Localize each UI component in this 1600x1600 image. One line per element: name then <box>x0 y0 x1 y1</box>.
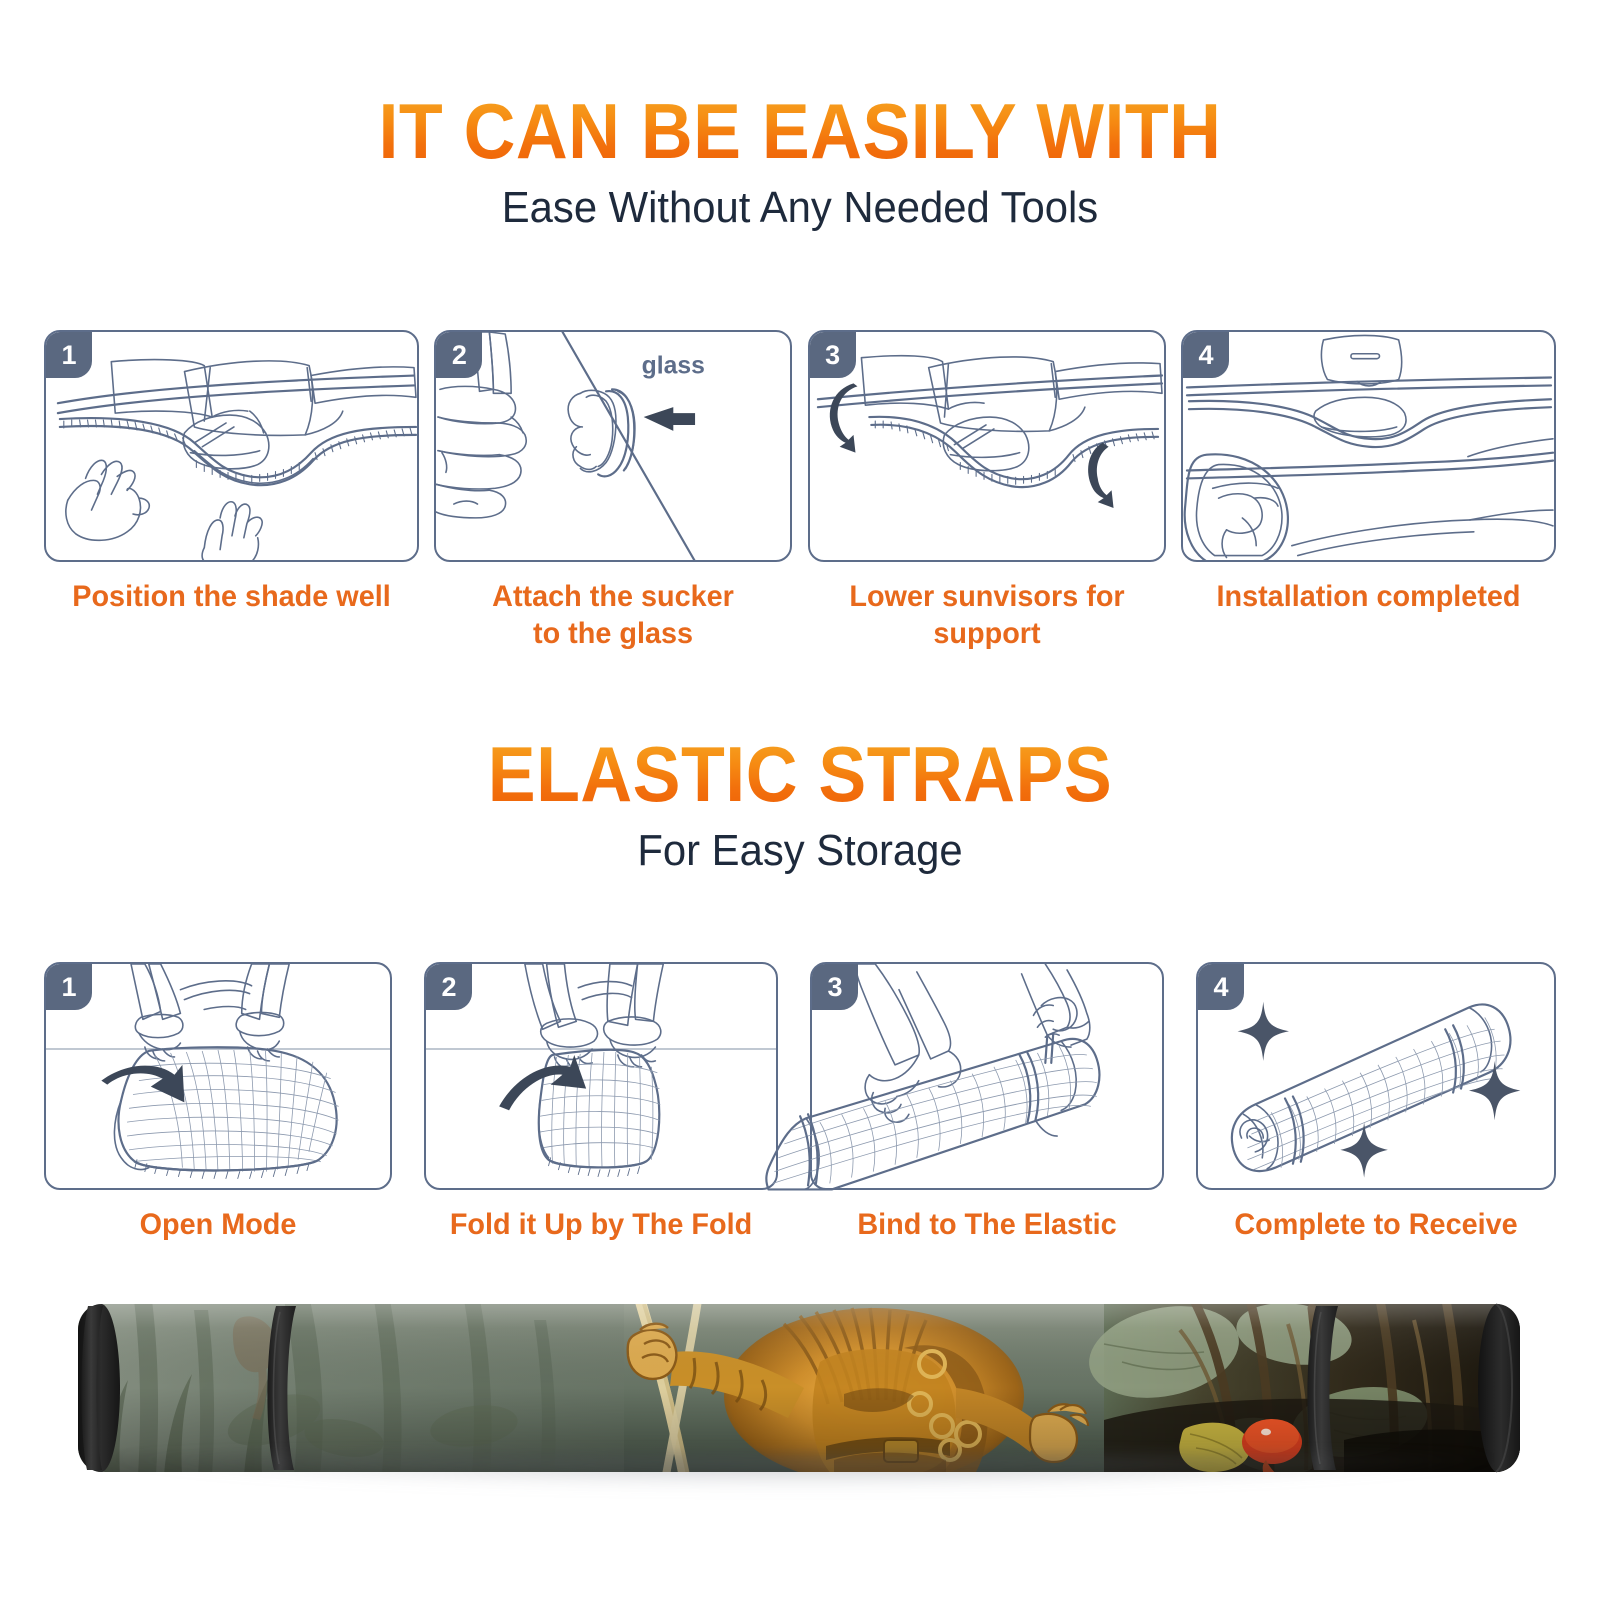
sparkle-icons <box>1238 1002 1521 1178</box>
install-step-2-caption: Attach the sucker to the glass <box>441 579 785 652</box>
hands-open-shade-illustration <box>46 964 390 1189</box>
storage-step-1-badge: 1 <box>46 964 92 1010</box>
rolled-sunshade-render <box>44 1300 1556 1475</box>
storage-step-4-card: 4 <box>1196 962 1556 1190</box>
installation-steps: 1 <box>44 330 1556 652</box>
install-step-2-card: 2 <box>434 330 792 562</box>
storage-step-2-badge: 2 <box>426 964 472 1010</box>
install-step-1[interactable]: 1 <box>44 330 419 616</box>
install-step-4-badge: 4 <box>1183 332 1229 378</box>
storage-step-3-caption: Bind to The Elastic <box>817 1207 1157 1244</box>
suction-cup-glass-illustration: glass <box>436 332 790 561</box>
storage-step-2-caption: Fold it Up by The Fold <box>431 1207 771 1244</box>
storage-step-2-card: 2 <box>424 962 778 1190</box>
hands-fold-shade-illustration <box>426 964 776 1189</box>
storage-step-2[interactable]: 2 <box>424 962 778 1244</box>
install-step-1-card: 1 <box>44 330 419 562</box>
interior-complete-illustration <box>1183 332 1554 562</box>
storage-step-4-caption: Complete to Receive <box>1203 1207 1549 1244</box>
storage-step-4-badge: 4 <box>1198 964 1244 1010</box>
bind-elastic-roll-illustration <box>812 964 1162 1189</box>
install-step-3-caption: Lower sunvisors for support <box>815 579 1159 652</box>
storage-step-3[interactable]: 3 <box>810 962 1164 1244</box>
install-step-1-badge: 1 <box>46 332 92 378</box>
install-step-4-card: 4 <box>1181 330 1556 562</box>
install-step-3-badge: 3 <box>810 332 856 378</box>
storage-step-3-card: 3 <box>810 962 1164 1190</box>
installation-title: IT CAN BE EASILY WITH <box>64 92 1536 170</box>
fold-arrow-icon <box>101 1065 184 1103</box>
storage-steps: 1 <box>44 962 1556 1244</box>
glass-annotation-label: glass <box>642 353 705 380</box>
roll-end-spiral <box>1240 1120 1268 1152</box>
install-step-1-caption: Position the shade well <box>52 579 412 616</box>
rolled-shade-sparkle-illustration <box>1198 964 1554 1189</box>
storage-step-4[interactable]: 4 <box>1196 962 1556 1244</box>
sunvisors-arrows-illustration <box>810 332 1164 561</box>
storage-step-1-caption: Open Mode <box>51 1207 385 1244</box>
install-step-4[interactable]: 4 <box>1181 330 1556 616</box>
install-step-2[interactable]: 2 <box>434 330 792 652</box>
install-step-2-badge: 2 <box>436 332 482 378</box>
storage-section-header: ELASTIC STRAPS For Easy Storage <box>0 735 1600 875</box>
storage-step-1-card: 1 <box>44 962 392 1190</box>
installation-subtitle: Ease Without Any Needed Tools <box>40 184 1560 232</box>
storage-title: ELASTIC STRAPS <box>64 735 1536 813</box>
elastic-straps <box>800 1053 1038 1185</box>
dashboard-hands-illustration <box>46 332 417 562</box>
product-shadow <box>114 1455 1496 1489</box>
install-step-4-caption: Installation completed <box>1188 579 1548 616</box>
rotate-right-arrow-icon <box>1088 443 1113 508</box>
storage-subtitle: For Easy Storage <box>40 827 1560 875</box>
right-arrow-icon <box>644 407 695 431</box>
product-photo <box>44 1300 1556 1475</box>
install-step-3[interactable]: 3 <box>808 330 1166 652</box>
installation-section-header: IT CAN BE EASILY WITH Ease Without Any N… <box>0 92 1600 232</box>
roll-right-end-cap <box>1478 1304 1520 1472</box>
storage-step-3-badge: 3 <box>812 964 858 1010</box>
storage-step-1[interactable]: 1 <box>44 962 392 1244</box>
rotate-left-arrow-icon <box>829 383 857 452</box>
install-step-3-card: 3 <box>808 330 1166 562</box>
